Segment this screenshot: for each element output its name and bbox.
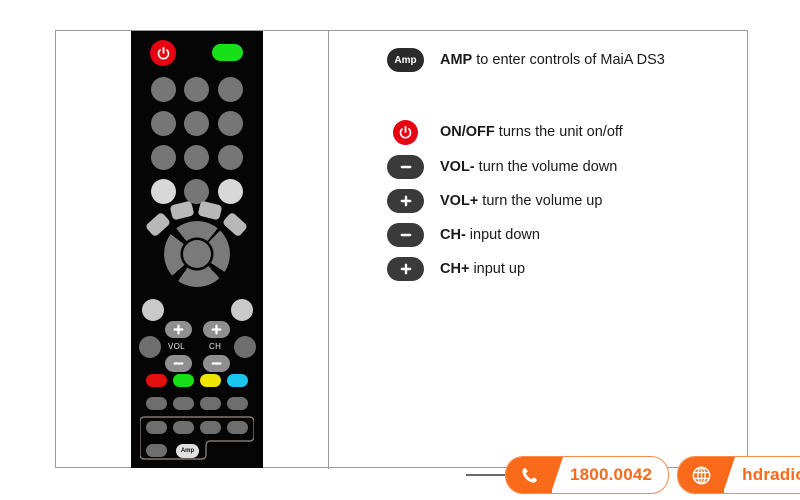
minus-icon[interactable] (387, 223, 424, 247)
remote-side-button-topright[interactable] (231, 299, 253, 321)
legend-label-vol-up: VOL+ turn the volume up (440, 193, 602, 209)
legend-label-ch-down-rest: input down (466, 227, 540, 243)
green-color-button[interactable] (173, 374, 194, 387)
cyan-color-button[interactable] (227, 374, 248, 387)
legend-label-ch-up: CH+ input up (440, 261, 525, 277)
legend-label-onoff-bold: ON/OFF (440, 124, 495, 140)
remote-ch-up-button[interactable] (203, 321, 230, 338)
amp-pill-icon[interactable]: Amp (387, 48, 424, 72)
color-button-row (146, 374, 248, 387)
plus-icon (173, 324, 184, 335)
navigation-dpad[interactable] (145, 201, 249, 293)
remote-ch-label: CH (209, 342, 221, 351)
amp-pill-label: Amp (387, 48, 424, 72)
legend-row-vol-up: VOL+ turn the volume up (387, 189, 602, 213)
red-color-button[interactable] (146, 374, 167, 387)
phone-glyph-icon (520, 466, 539, 485)
keypad-button[interactable] (218, 77, 243, 102)
dpad-petal-upright[interactable] (222, 212, 248, 238)
legend-panel: Amp AMP to enter controls of MaiA DS3 ON… (329, 31, 749, 468)
phone-badge[interactable]: 1800.0042 (505, 456, 669, 494)
remote-vol-up-button[interactable] (165, 321, 192, 338)
remote-vol-down-button[interactable] (165, 355, 192, 372)
legend-label-vol-down: VOL- turn the volume down (440, 159, 617, 175)
remote-side-button-botright[interactable] (234, 336, 256, 358)
remote-side-button-botleft[interactable] (139, 336, 161, 358)
remote-side-button-topleft[interactable] (142, 299, 164, 321)
dpad-petal-uptop-r[interactable] (198, 201, 223, 221)
minus-icon (173, 358, 184, 369)
remote-ch-down-button[interactable] (203, 355, 230, 372)
minus-icon (211, 358, 222, 369)
dpad-petal-uptop-l[interactable] (170, 201, 195, 221)
minus-glyph-icon (399, 160, 413, 174)
minus-icon-pill (387, 155, 424, 179)
website-label: hdradio.vn (724, 465, 800, 485)
plus-icon[interactable] (387, 189, 424, 213)
diagram-frame: VOL CH (55, 30, 748, 468)
globe-glyph-icon (691, 465, 712, 486)
legend-row-onoff: ON/OFF turns the unit on/off (387, 120, 623, 144)
function-oval-button[interactable] (146, 397, 167, 410)
keypad-button[interactable] (151, 145, 176, 170)
power-glyph-icon (398, 125, 413, 140)
legend-label-amp-rest: to enter controls of MaiA DS3 (472, 52, 665, 68)
legend-row-ch-down: CH- input down (387, 223, 540, 247)
legend-label-onoff-rest: turns the unit on/off (495, 124, 623, 140)
legend-label-vol-up-bold: VOL+ (440, 193, 478, 209)
remote-keypad (147, 77, 247, 204)
function-oval-button[interactable] (173, 397, 194, 410)
minus-icon[interactable] (387, 155, 424, 179)
yellow-color-button[interactable] (200, 374, 221, 387)
globe-icon (678, 457, 724, 493)
keypad-button[interactable] (184, 145, 209, 170)
legend-label-ch-down-bold: CH- (440, 227, 466, 243)
function-oval-row-1 (146, 397, 248, 410)
plus-glyph-icon (399, 194, 413, 208)
dpad-petal-upleft[interactable] (145, 212, 171, 238)
dpad-ok-button[interactable] (183, 240, 211, 268)
legend-label-ch-up-bold: CH+ (440, 261, 469, 277)
legend-row-amp: Amp AMP to enter controls of MaiA DS3 (387, 48, 665, 72)
legend-row-ch-up: CH+ input up (387, 257, 525, 281)
function-oval-button[interactable] (200, 397, 221, 410)
keypad-button[interactable] (184, 111, 209, 136)
phone-number-label: 1800.0042 (552, 465, 668, 485)
legend-label-ch-down: CH- input down (440, 227, 540, 243)
footer-contact-badges: 1800.0042 hdradio.vn (505, 456, 800, 494)
legend-label-amp-bold: AMP (440, 52, 472, 68)
plus-glyph-icon (399, 262, 413, 276)
plus-icon-pill (387, 257, 424, 281)
power-icon[interactable] (387, 120, 424, 144)
legend-label-vol-down-bold: VOL- (440, 159, 475, 175)
keypad-button[interactable] (218, 111, 243, 136)
legend-label-vol-up-rest: turn the volume up (478, 193, 602, 209)
keypad-button[interactable] (151, 77, 176, 102)
legend-label-vol-down-rest: turn the volume down (475, 159, 618, 175)
plus-icon (211, 324, 222, 335)
legend-label-amp: AMP to enter controls of MaiA DS3 (440, 52, 665, 68)
remote-green-button[interactable] (212, 44, 243, 61)
remote-vol-label: VOL (168, 342, 185, 351)
legend-row-vol-down: VOL- turn the volume down (387, 155, 617, 179)
legend-label-ch-up-rest: input up (469, 261, 525, 277)
power-icon-circle (393, 120, 418, 145)
keypad-button[interactable] (151, 111, 176, 136)
keypad-button[interactable] (218, 145, 243, 170)
legend-label-onoff: ON/OFF turns the unit on/off (440, 124, 623, 140)
minus-icon-pill (387, 223, 424, 247)
keypad-button[interactable] (184, 77, 209, 102)
minus-glyph-icon (399, 228, 413, 242)
leader-line-left (466, 474, 508, 476)
remote-power-button[interactable] (150, 40, 176, 66)
phone-icon (506, 457, 552, 493)
remote-control-body: VOL CH (131, 31, 263, 468)
plus-icon[interactable] (387, 257, 424, 281)
function-oval-button[interactable] (227, 397, 248, 410)
plus-icon-pill (387, 189, 424, 213)
power-icon (156, 46, 171, 61)
website-badge[interactable]: hdradio.vn (677, 456, 800, 494)
amp-callout-outline (140, 411, 254, 463)
